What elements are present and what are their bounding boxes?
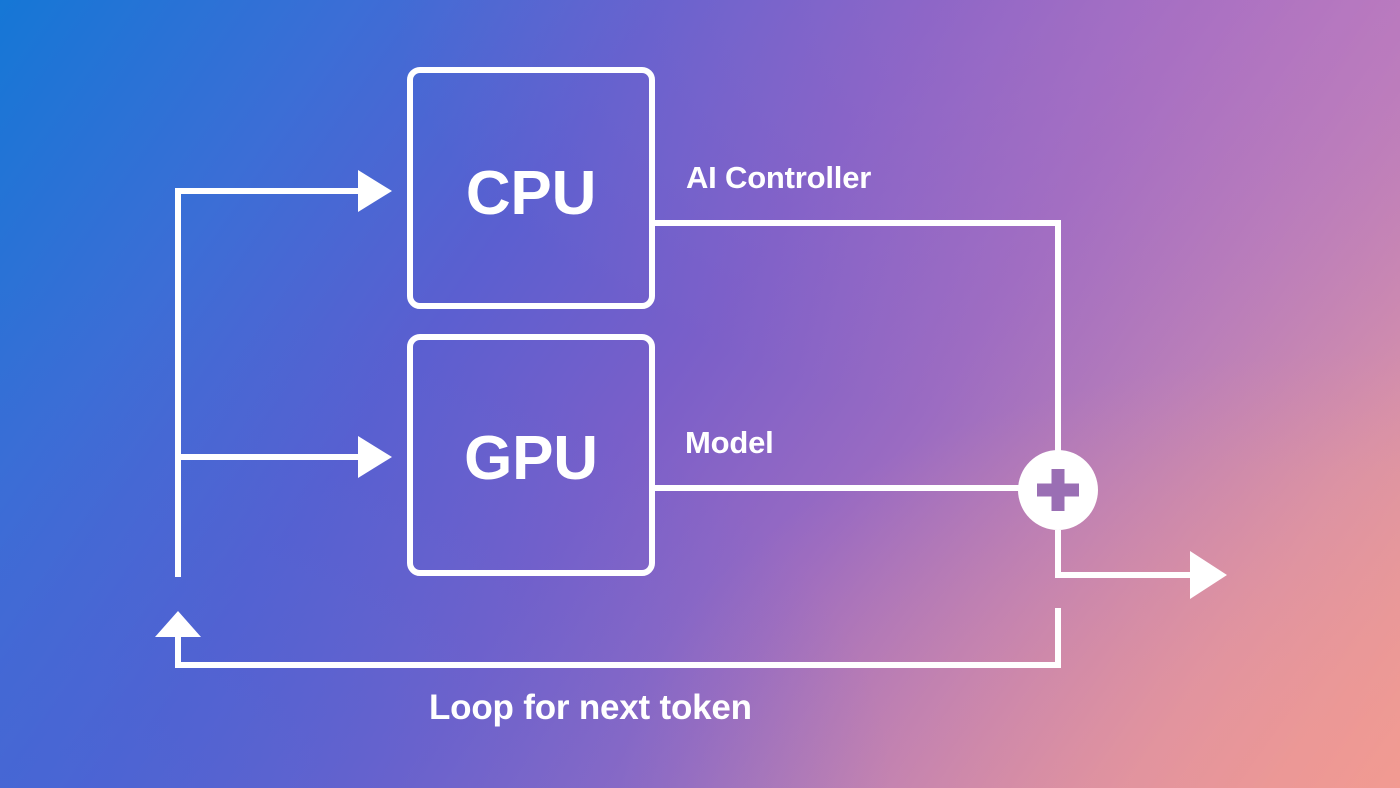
arrow-up-icon-loop — [155, 611, 201, 637]
output-wire — [1058, 530, 1196, 575]
cpu-output-wire — [652, 223, 1058, 452]
feedback-loop-wire — [178, 608, 1058, 665]
arrow-right-icon-output — [1190, 551, 1227, 599]
diagram-wiring — [0, 0, 1400, 788]
model-edge-label: Model — [685, 427, 774, 458]
ai-controller-edge-label: AI Controller — [686, 162, 871, 193]
arrow-right-icon-cpu — [358, 170, 392, 212]
loop-caption-label: Loop for next token — [429, 690, 752, 725]
arrow-right-icon-gpu — [358, 436, 392, 478]
gpu-node-label: GPU — [410, 428, 652, 490]
cpu-node-label: CPU — [410, 163, 652, 225]
diagram-canvas: CPU GPU AI Controller Model Loop for nex… — [0, 0, 1400, 788]
